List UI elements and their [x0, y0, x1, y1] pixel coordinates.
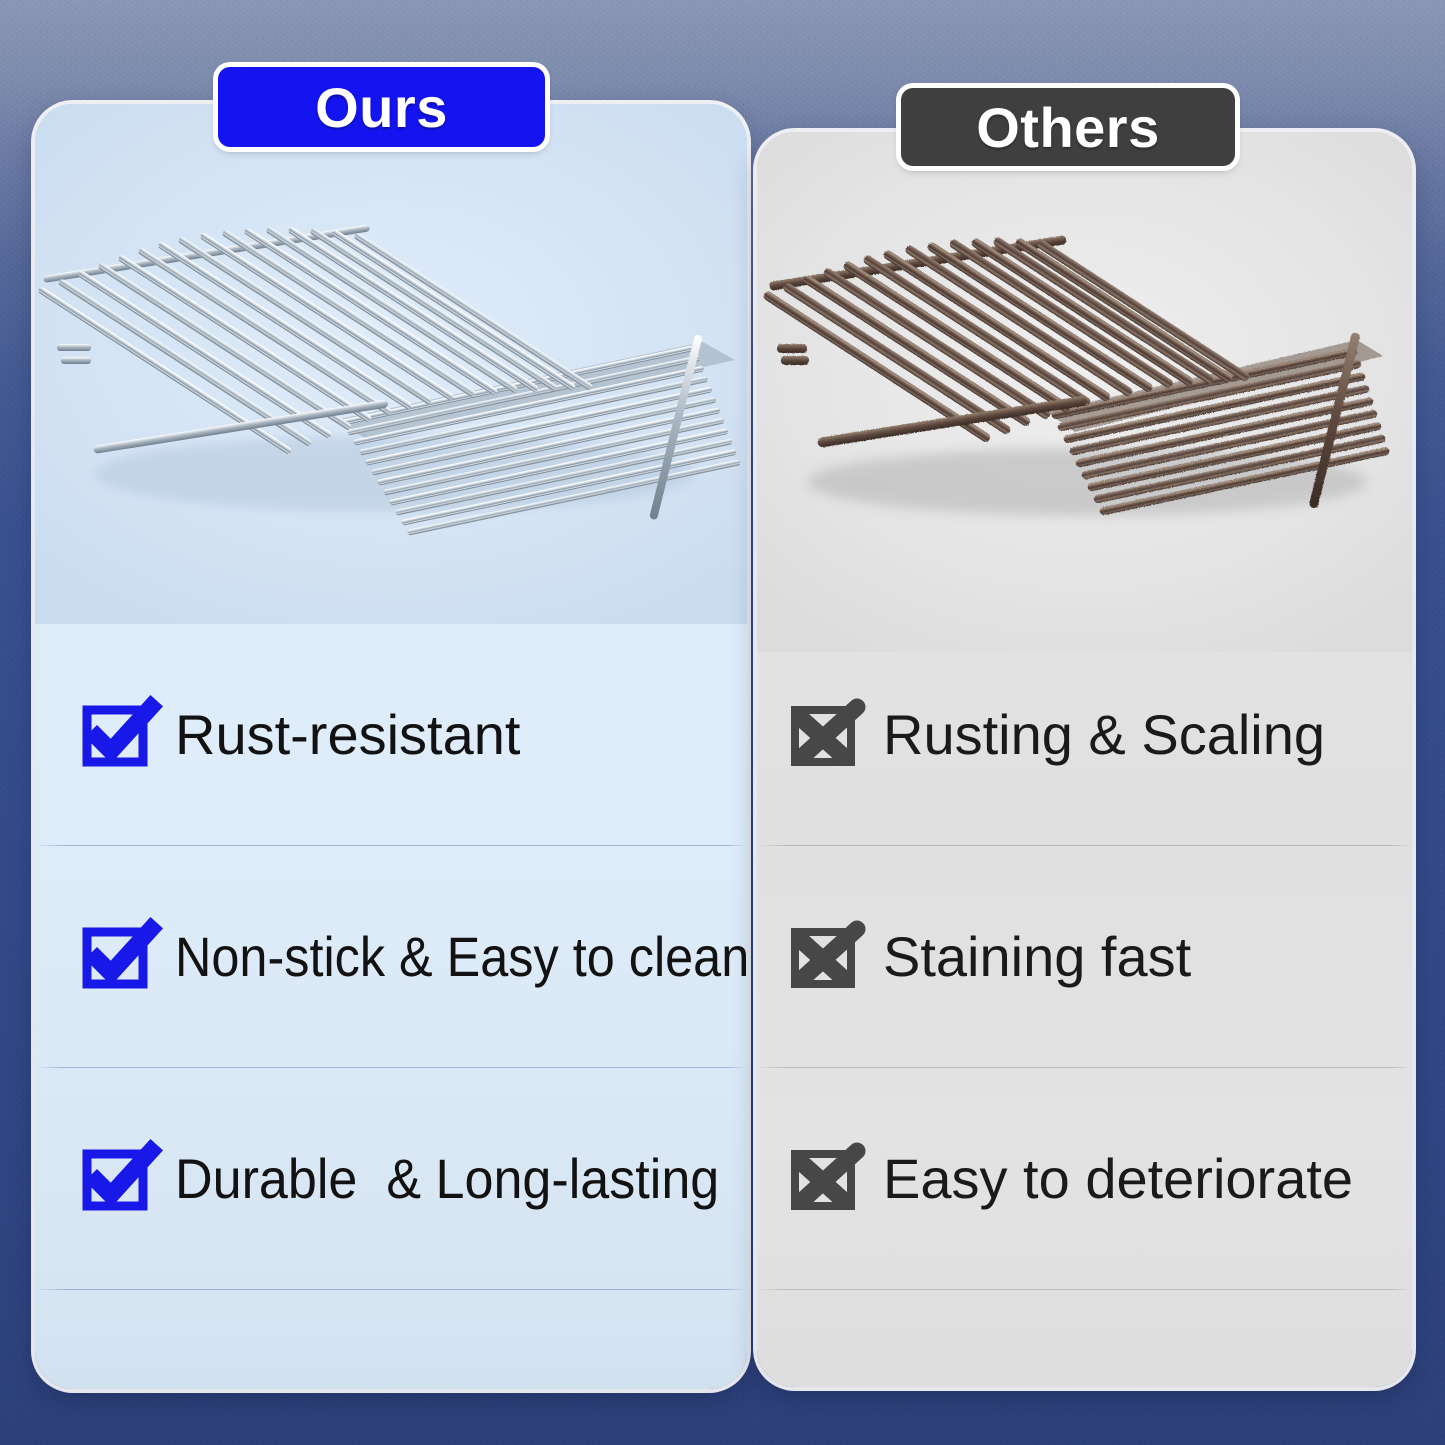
others-feature-list: Rusting & Scaling Staining fast: [757, 624, 1412, 1387]
feature-label: Staining fast: [883, 928, 1191, 987]
feature-row: Staining fast: [757, 846, 1412, 1068]
feature-label: Rust-resistant: [175, 706, 520, 765]
row-divider: [35, 1289, 747, 1290]
feature-label: Non-stick & Easy to clean: [175, 928, 747, 987]
ours-feature-list: Rust-resistant Non-stick & Easy to clean: [35, 624, 747, 1389]
feature-label: Easy to deteriorate: [883, 1150, 1353, 1209]
feature-row: Rust-resistant: [35, 624, 747, 846]
ours-badge: Ours: [218, 67, 545, 147]
ours-badge-label: Ours: [315, 75, 448, 140]
feature-row: Rusting & Scaling: [757, 624, 1412, 846]
feature-row: Durable & Long-lasting: [35, 1068, 747, 1290]
ours-product-image: [35, 224, 747, 554]
checkbox-checked-icon: [83, 1148, 157, 1210]
others-product-image: [757, 232, 1412, 542]
others-badge: Others: [901, 88, 1235, 166]
checkbox-crossed-icon: [791, 1148, 865, 1210]
checkbox-checked-icon: [83, 704, 157, 766]
checkbox-checked-icon: [83, 926, 157, 988]
feature-label: Durable & Long-lasting: [175, 1150, 719, 1209]
feature-label: Rusting & Scaling: [883, 706, 1325, 765]
checkbox-crossed-icon: [791, 704, 865, 766]
comparison-infographic: Rust-resistant Non-stick & Easy to clean: [0, 0, 1445, 1445]
others-badge-label: Others: [976, 95, 1160, 160]
feature-row: Easy to deteriorate: [757, 1068, 1412, 1290]
stainless-grate-illustration: [35, 224, 747, 554]
others-panel: Rusting & Scaling Staining fast: [757, 132, 1412, 1387]
ours-panel: Rust-resistant Non-stick & Easy to clean: [35, 104, 747, 1389]
checkbox-crossed-icon: [791, 926, 865, 988]
row-divider: [757, 1289, 1412, 1290]
rusted-grate-illustration: [757, 232, 1412, 542]
feature-row: Non-stick & Easy to clean: [35, 846, 747, 1068]
